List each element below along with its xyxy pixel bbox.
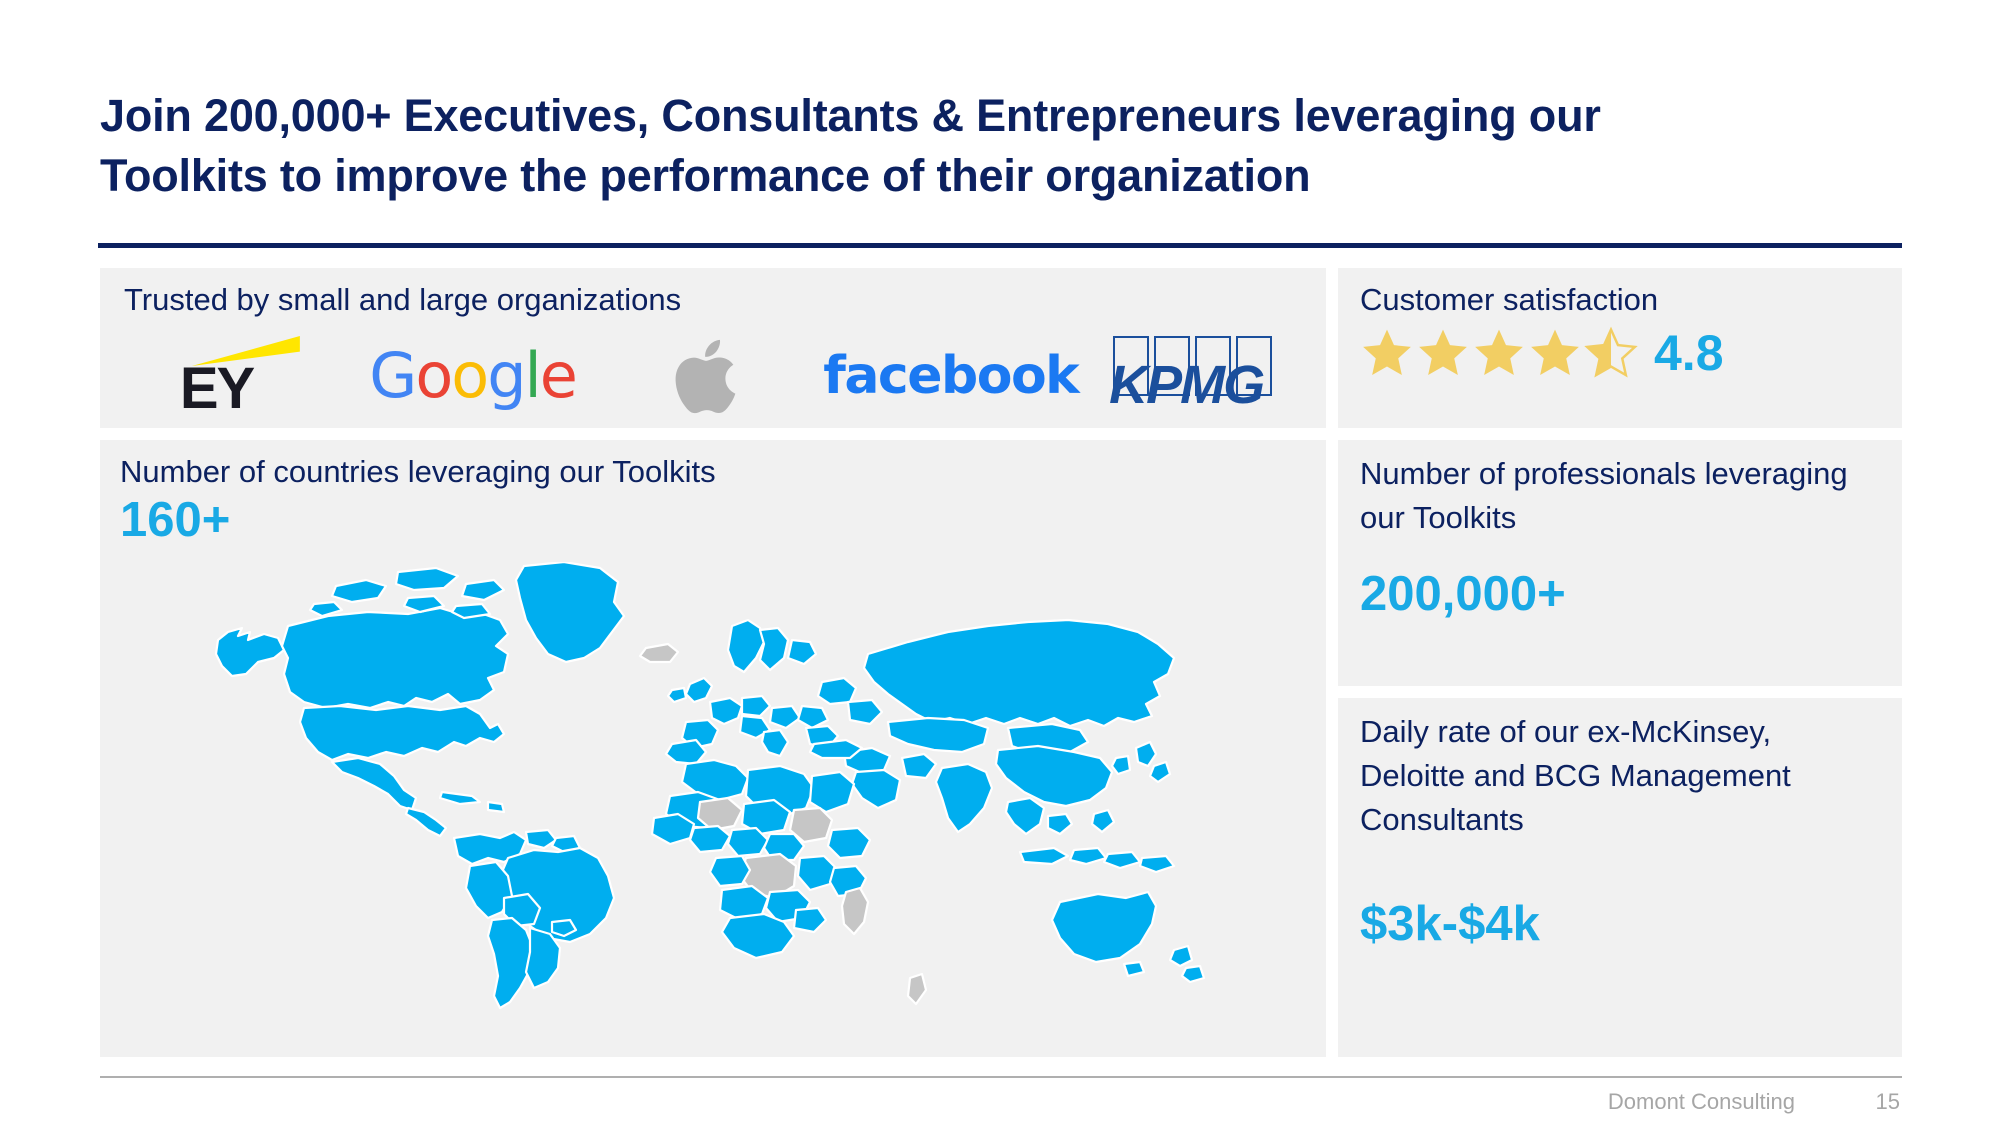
facebook-logo: facebook bbox=[823, 348, 1078, 404]
google-logo: Google bbox=[369, 345, 576, 407]
satisfaction-score: 4.8 bbox=[1654, 328, 1724, 378]
title-divider-rule bbox=[98, 243, 1902, 248]
logo-row: EY Google facebook bbox=[122, 330, 1312, 422]
page-title-line-2: Toolkits to improve the performance of t… bbox=[100, 146, 1900, 206]
footer-divider-rule bbox=[100, 1076, 1902, 1078]
rating-row: 4.8 bbox=[1360, 326, 1724, 380]
professionals-label: Number of professionals leveraging our T… bbox=[1360, 452, 1880, 540]
professionals-panel: Number of professionals leveraging our T… bbox=[1338, 440, 1902, 686]
ey-wordmark: EY bbox=[180, 360, 253, 418]
countries-value: 160+ bbox=[120, 492, 230, 548]
daily-rate-label: Daily rate of our ex-McKinsey, Deloitte … bbox=[1360, 710, 1884, 842]
logo-slot-kpmg: KPMG bbox=[1078, 330, 1312, 422]
ey-logo: EY bbox=[174, 334, 304, 418]
logo-slot-google: Google bbox=[356, 330, 590, 422]
trusted-by-label: Trusted by small and large organizations bbox=[124, 278, 681, 322]
footer-company: Domont Consulting bbox=[1608, 1087, 1795, 1117]
star-icon-2 bbox=[1416, 326, 1470, 380]
apple-logo bbox=[669, 332, 743, 420]
kpmg-logo: KPMG bbox=[1109, 334, 1281, 418]
page-title: Join 200,000+ Executives, Consultants & … bbox=[100, 86, 1900, 206]
star-icon-5-half bbox=[1584, 326, 1638, 380]
star-rating bbox=[1360, 326, 1638, 380]
customer-satisfaction-label: Customer satisfaction bbox=[1360, 278, 1658, 322]
slide-root: Join 200,000+ Executives, Consultants & … bbox=[0, 0, 2000, 1125]
countries-map-panel: Number of countries leveraging our Toolk… bbox=[100, 440, 1326, 1057]
footer-page-number: 15 bbox=[1876, 1087, 1900, 1117]
logo-slot-facebook: facebook bbox=[823, 330, 1078, 422]
page-title-line-1: Join 200,000+ Executives, Consultants & … bbox=[100, 86, 1900, 146]
customer-satisfaction-panel: Customer satisfaction 4.8 bbox=[1338, 268, 1902, 428]
world-map bbox=[208, 562, 1218, 1032]
star-icon-1 bbox=[1360, 326, 1414, 380]
kpmg-wordmark: KPMG bbox=[1109, 358, 1263, 412]
logo-slot-ey: EY bbox=[122, 330, 356, 422]
logo-slot-apple bbox=[589, 330, 823, 422]
professionals-value: 200,000+ bbox=[1360, 566, 1566, 622]
daily-rate-panel: Daily rate of our ex-McKinsey, Deloitte … bbox=[1338, 698, 1902, 1057]
trusted-by-panel: Trusted by small and large organizations… bbox=[100, 268, 1326, 428]
countries-label: Number of countries leveraging our Toolk… bbox=[120, 450, 716, 494]
star-icon-4 bbox=[1528, 326, 1582, 380]
daily-rate-value: $3k-$4k bbox=[1360, 896, 1540, 952]
star-icon-3 bbox=[1472, 326, 1526, 380]
